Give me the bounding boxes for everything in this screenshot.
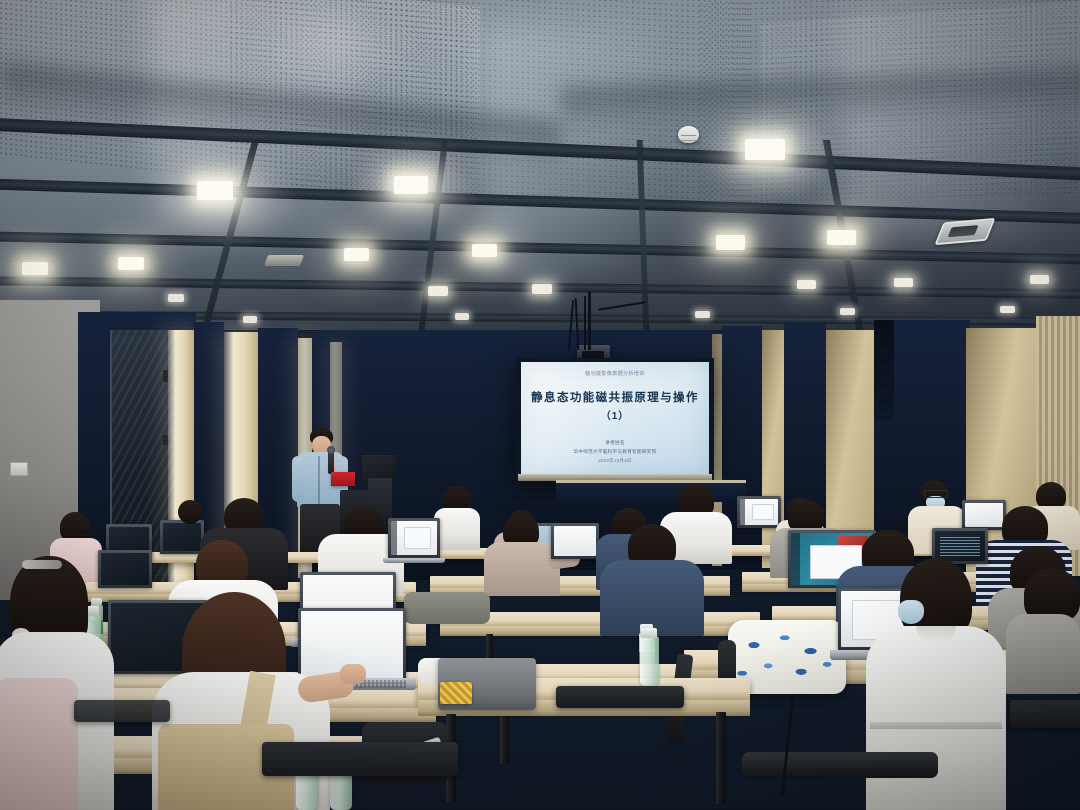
ceiling-light (894, 278, 913, 287)
ceiling-light (695, 311, 710, 318)
hair-clip-icon (22, 560, 62, 569)
laptop-screen (965, 503, 1003, 527)
attendee-head (178, 500, 202, 524)
ceiling-light (827, 230, 856, 245)
phone-case (440, 682, 472, 704)
ceiling-light (344, 248, 369, 261)
ceiling-light (22, 262, 48, 275)
chair[interactable] (1010, 700, 1080, 728)
slide-date: 2020年10月2日 (521, 458, 709, 464)
presenter-arm-left (292, 456, 304, 502)
laptop-base (383, 558, 445, 563)
eyeglasses-icon (78, 528, 93, 535)
bottle-cap (91, 598, 102, 605)
chair[interactable] (556, 686, 684, 708)
chair[interactable] (262, 742, 458, 776)
laptop-window (404, 527, 431, 549)
ceiling-light (532, 284, 552, 294)
classroom-photo: 脑功能影像数据分析培训 静息态功能磁共振原理与操作 （1） 讲者姓名 华中师范大… (0, 0, 1080, 810)
desk-leg (716, 712, 726, 804)
projection-screen: 脑功能影像数据分析培训 静息态功能磁共振原理与操作 （1） 讲者姓名 华中师范大… (521, 362, 709, 474)
slide-affiliation: 华中师范大学脑科学与教育智能研究院 (521, 449, 709, 455)
projector-cable (584, 296, 586, 350)
whiteboard-frame (556, 480, 746, 483)
attendee-body (1006, 614, 1080, 694)
ceiling-light (197, 181, 233, 200)
ceiling-light (745, 139, 785, 160)
whiteboard (556, 482, 746, 502)
laptop-taskbar (791, 533, 800, 585)
ceiling-light (455, 313, 469, 320)
ceiling-light (716, 235, 745, 250)
ceiling-speaker-icon (264, 255, 304, 266)
light-switch[interactable] (10, 462, 28, 476)
laptop-screen (554, 526, 596, 556)
attendee-body (434, 508, 480, 550)
attendee-waist-tie (870, 722, 1002, 729)
attendee-vest (0, 678, 78, 810)
eyeglasses-icon (924, 490, 948, 498)
ceiling-light (428, 286, 448, 296)
attendee-body (866, 626, 1006, 810)
chair-armrest[interactable] (742, 752, 938, 778)
ceiling (0, 0, 1080, 330)
ceiling-vent-icon (934, 218, 995, 245)
microphone-flag (331, 472, 355, 486)
slide-subtitle: （1） (521, 407, 709, 422)
slide-title: 静息态功能磁共振原理与操作 (521, 389, 709, 405)
laptop-window (752, 504, 774, 520)
ceiling-beam (0, 231, 1080, 265)
water-bottle (296, 772, 318, 810)
face-mask (898, 600, 924, 624)
chair[interactable] (74, 700, 170, 722)
slide-author: 讲者姓名 (521, 440, 709, 446)
laptop-taskbar (391, 521, 397, 555)
laptop-taskbar (740, 499, 745, 525)
ceiling-light (472, 244, 497, 257)
ceiling-light (840, 308, 855, 315)
bottle-cap (641, 628, 657, 638)
laptop-screen (163, 523, 201, 551)
laptop-screen (101, 553, 149, 585)
wall-shadow (874, 320, 894, 420)
laptop-screen-content (940, 536, 980, 556)
attendee-hand (340, 664, 366, 684)
water-bottle (640, 636, 659, 686)
ceiling-light (797, 280, 816, 289)
ceiling-light (243, 316, 257, 323)
smoke-detector-icon (678, 126, 699, 143)
presenter-shirt-placket (318, 456, 320, 504)
ceiling-light (1030, 275, 1049, 284)
microphone-head (327, 446, 335, 454)
ceiling-light (168, 294, 184, 302)
ceiling-light (394, 176, 428, 194)
attendee-body (484, 542, 560, 596)
bag (404, 592, 490, 624)
ceiling-light (118, 257, 144, 270)
power-cable (781, 694, 795, 798)
slide-header: 脑功能影像数据分析培训 (521, 370, 709, 377)
ceiling-light (1000, 306, 1015, 313)
projector-mount (588, 292, 591, 350)
